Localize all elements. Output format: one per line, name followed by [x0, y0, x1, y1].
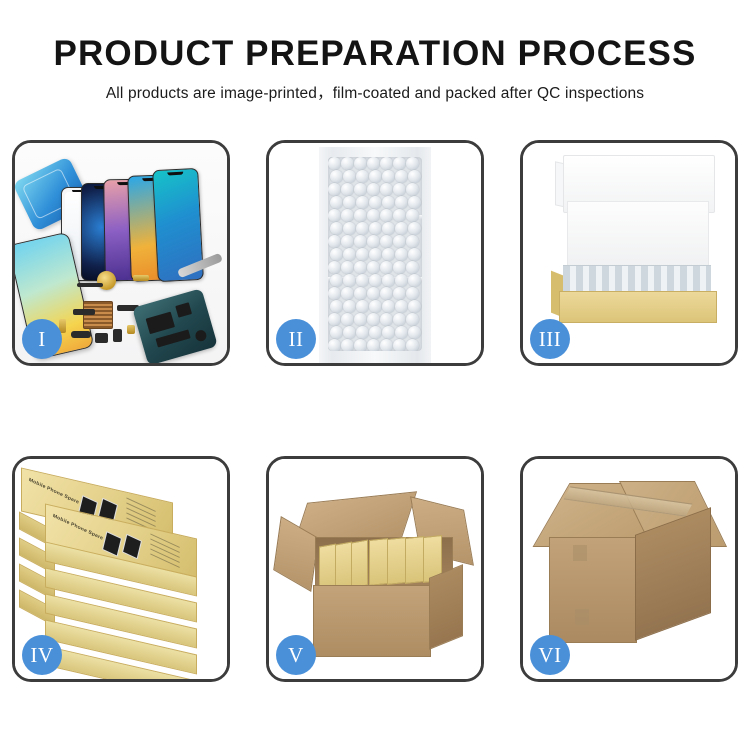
bubble-wrap-icon: [328, 157, 422, 351]
bubble: [328, 235, 341, 248]
bubble: [343, 196, 356, 209]
bubble: [328, 287, 341, 300]
bubble: [382, 248, 395, 261]
bubble: [341, 209, 354, 222]
tape-tab-lower: [575, 609, 589, 625]
bubble: [330, 248, 343, 261]
bubble: [343, 300, 356, 313]
step-badge-3: III: [530, 319, 570, 359]
carton-right-face: [429, 564, 463, 650]
foam-insert-icon: [567, 201, 709, 269]
step-panel-4: Mobile Phone Spare Parts Mobile Phone Sp…: [12, 456, 230, 682]
bubble: [328, 339, 341, 351]
bubble: [330, 170, 343, 183]
bubble: [341, 235, 354, 248]
bubble: [367, 339, 380, 351]
bubble: [354, 287, 367, 300]
bubble: [382, 274, 395, 287]
bubble: [330, 326, 343, 339]
bubble: [367, 261, 380, 274]
bubble: [380, 235, 393, 248]
bubble: [343, 222, 356, 235]
bubble: [393, 261, 406, 274]
bubble: [406, 183, 419, 196]
bubble: [406, 157, 419, 170]
box-tray-front: [559, 291, 717, 323]
packed-box: [351, 540, 368, 589]
bubble: [367, 209, 380, 222]
bubble: [367, 183, 380, 196]
bubble: [356, 248, 369, 261]
bubble: [406, 339, 419, 351]
bubble: [369, 222, 382, 235]
step-panel-2: II: [266, 140, 484, 366]
bubble: [380, 339, 393, 351]
bubble: [382, 326, 395, 339]
bubble: [356, 222, 369, 235]
packed-box: [405, 536, 424, 584]
bubble: [354, 183, 367, 196]
bubble: [393, 287, 406, 300]
step-badge-5: V: [276, 635, 316, 675]
bubble: [369, 248, 382, 261]
bubble: [341, 261, 354, 274]
step-panel-3: III: [520, 140, 738, 366]
bubble: [369, 274, 382, 287]
bubble: [354, 209, 367, 222]
bubble: [343, 170, 356, 183]
step-panel-1: I: [12, 140, 230, 366]
bubble: [408, 222, 421, 235]
bubble: [406, 313, 419, 326]
bubble: [343, 326, 356, 339]
screw-set-icon: [127, 325, 135, 334]
bubble: [393, 157, 406, 170]
step-panel-6: VI: [520, 456, 738, 682]
bubble: [406, 261, 419, 274]
bubble: [380, 157, 393, 170]
step-badge-6: VI: [530, 635, 570, 675]
bubble: [328, 313, 341, 326]
bubble: [356, 170, 369, 183]
carton-front-face: [313, 585, 431, 657]
bubble: [382, 300, 395, 313]
bubble: [369, 326, 382, 339]
bubble: [393, 235, 406, 248]
bubble: [380, 261, 393, 274]
bubble: [341, 339, 354, 351]
process-steps-grid: I II: [12, 140, 738, 682]
step-badge-1: I: [22, 319, 62, 359]
bubble: [408, 274, 421, 287]
bubble: [393, 339, 406, 351]
bubble: [356, 300, 369, 313]
vibration-motor-icon: [97, 271, 116, 290]
bubble: [395, 274, 408, 287]
bubble: [393, 209, 406, 222]
bubble: [382, 196, 395, 209]
flex-cable-icon: [77, 283, 103, 287]
header: PRODUCT PREPARATION PROCESS All products…: [0, 34, 750, 103]
bubble: [406, 235, 419, 248]
bubble: [408, 170, 421, 183]
bubble: [328, 183, 341, 196]
bubble: [328, 209, 341, 222]
tape-tab-upper: [573, 545, 587, 561]
bubble: [395, 300, 408, 313]
bubble: [406, 287, 419, 300]
bubble-wrapped-contents-icon: [563, 265, 711, 294]
bubble: [341, 287, 354, 300]
bubble: [406, 209, 419, 222]
bubble: [330, 300, 343, 313]
bubble: [341, 157, 354, 170]
bubble: [395, 222, 408, 235]
bubble: [382, 222, 395, 235]
bubble: [343, 274, 356, 287]
bubble: [328, 157, 341, 170]
bubble: [408, 196, 421, 209]
step-badge-4: IV: [22, 635, 62, 675]
bubble: [395, 248, 408, 261]
page-subtitle: All products are image-printed，film-coat…: [0, 81, 750, 103]
bubble: [343, 248, 356, 261]
step-badge-2: II: [276, 319, 316, 359]
packed-box: [335, 542, 352, 591]
bubble: [369, 196, 382, 209]
bubble: [367, 287, 380, 300]
bubble: [408, 326, 421, 339]
bubble: [380, 209, 393, 222]
page-title: PRODUCT PREPARATION PROCESS: [0, 34, 750, 74]
bubble: [393, 313, 406, 326]
bubble: [330, 274, 343, 287]
bubble: [354, 339, 367, 351]
bubble: [354, 235, 367, 248]
bubble: [380, 183, 393, 196]
bubble: [354, 261, 367, 274]
bubble: [356, 274, 369, 287]
ribbon-cable-icon: [73, 309, 95, 315]
bubble: [367, 157, 380, 170]
bubble: [356, 326, 369, 339]
connector-grid-icon: [83, 301, 113, 329]
bubble: [367, 235, 380, 248]
bubble: [369, 300, 382, 313]
bubble: [408, 248, 421, 261]
small-part-icon: [113, 329, 122, 342]
bubble: [354, 157, 367, 170]
bubble: [395, 170, 408, 183]
packed-box: [369, 538, 388, 586]
packed-box: [387, 537, 406, 585]
bubble: [330, 196, 343, 209]
bubble: [341, 183, 354, 196]
bubble: [367, 313, 380, 326]
gold-contact-icon: [133, 275, 149, 281]
bubble: [380, 287, 393, 300]
step-panel-5: V: [266, 456, 484, 682]
bubble: [380, 313, 393, 326]
bubble: [354, 313, 367, 326]
camera-module-icon: [95, 333, 108, 343]
bubble: [328, 261, 341, 274]
bubble: [382, 170, 395, 183]
bubble: [356, 196, 369, 209]
bubble: [395, 196, 408, 209]
bubble: [330, 222, 343, 235]
product-preparation-infographic: PRODUCT PREPARATION PROCESS All products…: [0, 0, 750, 750]
bubble: [408, 300, 421, 313]
bubble: [393, 183, 406, 196]
bubble: [369, 170, 382, 183]
bubble: [341, 313, 354, 326]
bubble: [395, 326, 408, 339]
carton-front-face: [549, 537, 637, 643]
speaker-part-icon: [71, 331, 91, 338]
